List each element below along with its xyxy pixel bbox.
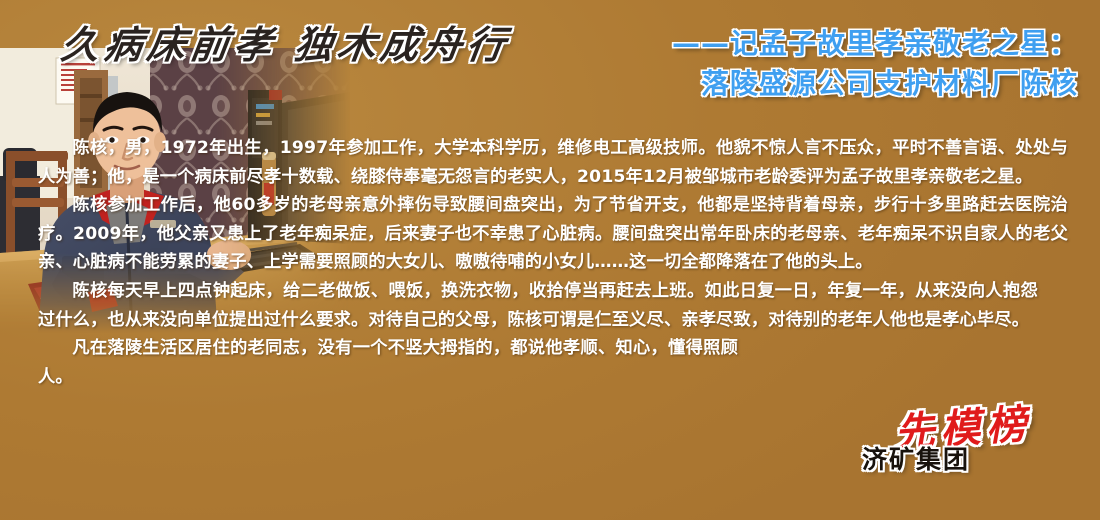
page-title-calligraphy: 久病床前孝 独木成舟行 (58, 14, 514, 69)
poster-root: 久病床前孝 独木成舟行 ——记孟子故里孝亲敬老之星： 落陵盛源公司支护材料厂陈核… (0, 0, 1100, 520)
brand-logo: 先模榜 济矿集团 (862, 396, 1082, 500)
subtitle-line-1: ——记孟子故里孝亲敬老之星： (518, 24, 1078, 64)
article-paragraph-1: 陈核，男，1972年出生，1997年参加工作，大学本科学历，维修电工高级技师。他… (38, 134, 1068, 191)
logo-company-text: 济矿集团 (862, 440, 970, 476)
subtitle-line-2: 落陵盛源公司支护材料厂陈核 (518, 64, 1078, 104)
page-subtitle: ——记孟子故里孝亲敬老之星： 落陵盛源公司支护材料厂陈核 (518, 24, 1078, 104)
article-paragraph-2: 陈核参加工作后，他60多岁的老母亲意外摔伤导致腰间盘突出，为了节省开支，他都是坚… (38, 191, 1068, 277)
article-paragraph-4: 凡在落陵生活区居住的老同志，没有一个不竖大拇指的，都说他孝顺、知心，懂得照顾人。 (38, 334, 738, 391)
article-paragraph-3: 陈核每天早上四点钟起床，给二老做饭、喂饭，换洗衣物，收拾停当再赶去上班。如此日复… (38, 277, 1038, 334)
article-body: 陈核，男，1972年出生，1997年参加工作，大学本科学历，维修电工高级技师。他… (38, 134, 1068, 391)
